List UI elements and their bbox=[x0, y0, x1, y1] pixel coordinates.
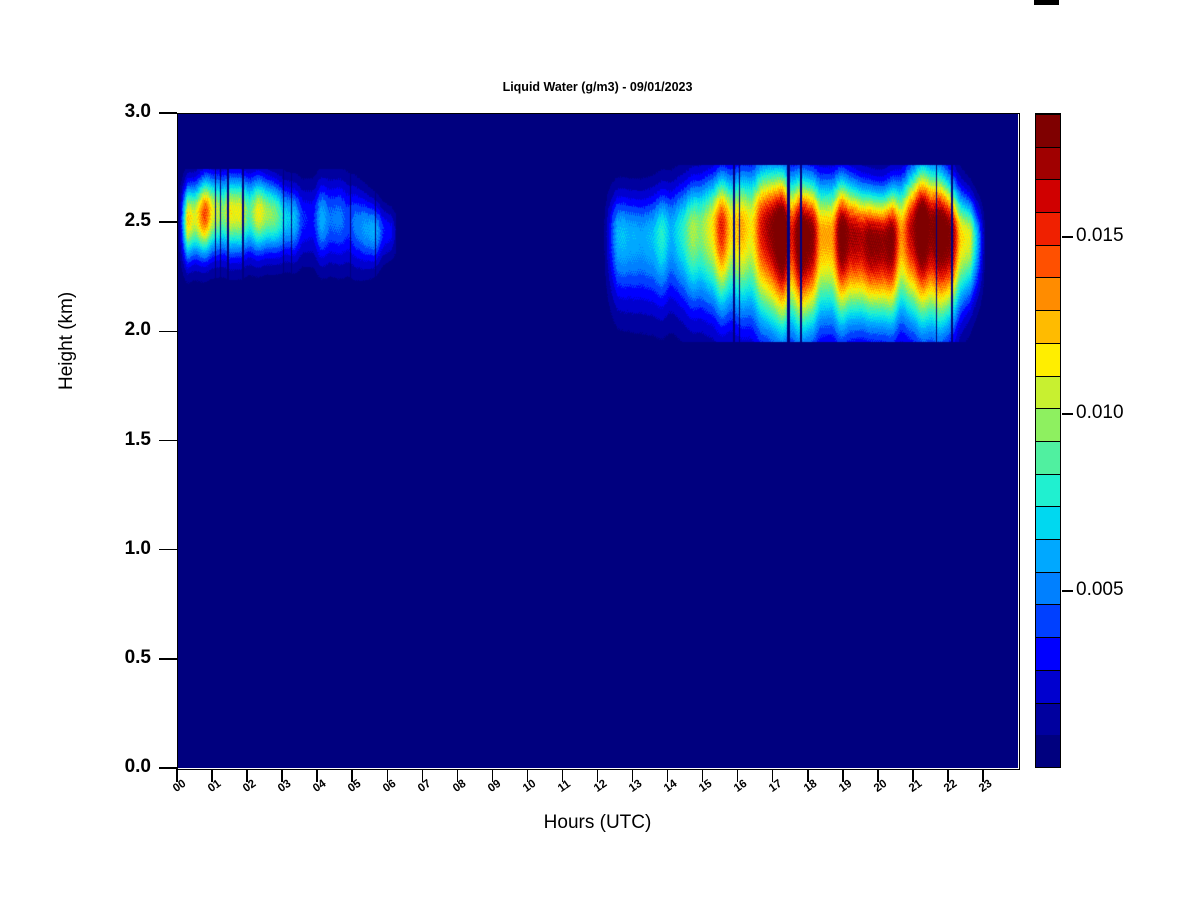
x-axis-tick-label: 19 bbox=[837, 778, 854, 795]
colorbar-tick bbox=[1062, 236, 1073, 238]
colorbar-band bbox=[1036, 441, 1060, 474]
x-axis-tick-label: 23 bbox=[977, 778, 994, 795]
colorbar-band bbox=[1036, 245, 1060, 278]
y-axis-tick bbox=[159, 549, 177, 551]
x-axis-tick-label: 16 bbox=[732, 778, 749, 795]
x-axis-tick-label: 13 bbox=[627, 778, 644, 795]
x-axis-tick-label: 10 bbox=[521, 778, 538, 795]
y-axis-tick-label: 1.0 bbox=[81, 538, 151, 560]
x-axis-tick-label: 09 bbox=[486, 778, 503, 795]
y-axis-tick-label: 0.5 bbox=[81, 647, 151, 669]
colorbar-tick bbox=[1062, 590, 1073, 592]
heatmap-plot-area bbox=[177, 113, 1018, 768]
top-right-artifact-bar bbox=[1034, 0, 1059, 5]
y-axis-tick bbox=[159, 331, 177, 333]
x-axis-tick-label: 01 bbox=[206, 778, 223, 795]
colorbar-tick bbox=[1062, 413, 1073, 415]
heatmap-canvas bbox=[177, 113, 1018, 768]
x-axis-label: Hours (UTC) bbox=[177, 812, 1018, 834]
colorbar-band bbox=[1036, 474, 1060, 507]
x-axis-tick-label: 15 bbox=[697, 778, 714, 795]
colorbar-band bbox=[1036, 408, 1060, 441]
page-title: Liquid Water (g/m3) - 09/01/2023 bbox=[177, 80, 1018, 94]
x-axis-tick-label: 14 bbox=[662, 778, 679, 795]
x-axis-tick-label: 11 bbox=[556, 778, 573, 795]
colorbar-band bbox=[1036, 637, 1060, 670]
colorbar bbox=[1035, 113, 1061, 768]
colorbar-band bbox=[1036, 703, 1060, 736]
colorbar-band bbox=[1036, 572, 1060, 605]
x-axis-tick-label: 22 bbox=[942, 778, 959, 795]
x-axis-tick-label: 06 bbox=[381, 778, 398, 795]
y-axis-tick-label: 0.0 bbox=[81, 756, 151, 778]
x-axis-tick-label: 04 bbox=[311, 778, 328, 795]
y-axis-tick bbox=[159, 221, 177, 223]
x-axis-tick-label: 12 bbox=[592, 778, 609, 795]
colorbar-band bbox=[1036, 114, 1060, 147]
x-axis-tick-label: 00 bbox=[171, 778, 188, 795]
x-axis-tick-label: 21 bbox=[907, 778, 924, 795]
colorbar-band bbox=[1036, 277, 1060, 310]
y-axis-tick bbox=[159, 658, 177, 660]
colorbar-tick-label: 0.015 bbox=[1076, 225, 1124, 247]
colorbar-band bbox=[1036, 539, 1060, 572]
colorbar-band bbox=[1036, 506, 1060, 539]
colorbar-tick-label: 0.010 bbox=[1076, 402, 1124, 424]
colorbar-band bbox=[1036, 376, 1060, 409]
y-axis-tick bbox=[159, 112, 177, 114]
y-axis-tick-label: 1.5 bbox=[81, 429, 151, 451]
y-axis-tick-label: 2.5 bbox=[81, 210, 151, 232]
x-axis-tick-label: 02 bbox=[241, 778, 258, 795]
colorbar-band bbox=[1036, 147, 1060, 180]
figure-root: Liquid Water (g/m3) - 09/01/2023 0.00.51… bbox=[0, 0, 1200, 900]
colorbar-band bbox=[1036, 212, 1060, 245]
colorbar-band bbox=[1036, 735, 1060, 767]
y-axis-tick bbox=[159, 767, 177, 769]
colorbar-band bbox=[1036, 670, 1060, 703]
x-axis-tick-label: 17 bbox=[767, 778, 784, 795]
x-axis-tick-label: 20 bbox=[872, 778, 889, 795]
colorbar-band bbox=[1036, 310, 1060, 343]
x-axis-tick-label: 08 bbox=[451, 778, 468, 795]
y-axis-tick-label: 2.0 bbox=[81, 319, 151, 341]
colorbar-band bbox=[1036, 604, 1060, 637]
colorbar-band bbox=[1036, 343, 1060, 376]
x-axis-tick-label: 05 bbox=[346, 778, 363, 795]
colorbar-tick-label: 0.005 bbox=[1076, 579, 1124, 601]
x-axis-tick-label: 18 bbox=[802, 778, 819, 795]
colorbar-band bbox=[1036, 179, 1060, 212]
x-axis-tick-label: 07 bbox=[416, 778, 433, 795]
y-axis-tick bbox=[159, 440, 177, 442]
y-axis-tick-label: 3.0 bbox=[81, 101, 151, 123]
x-axis-tick-label: 03 bbox=[276, 778, 293, 795]
y-axis-label: Height (km) bbox=[56, 292, 78, 390]
